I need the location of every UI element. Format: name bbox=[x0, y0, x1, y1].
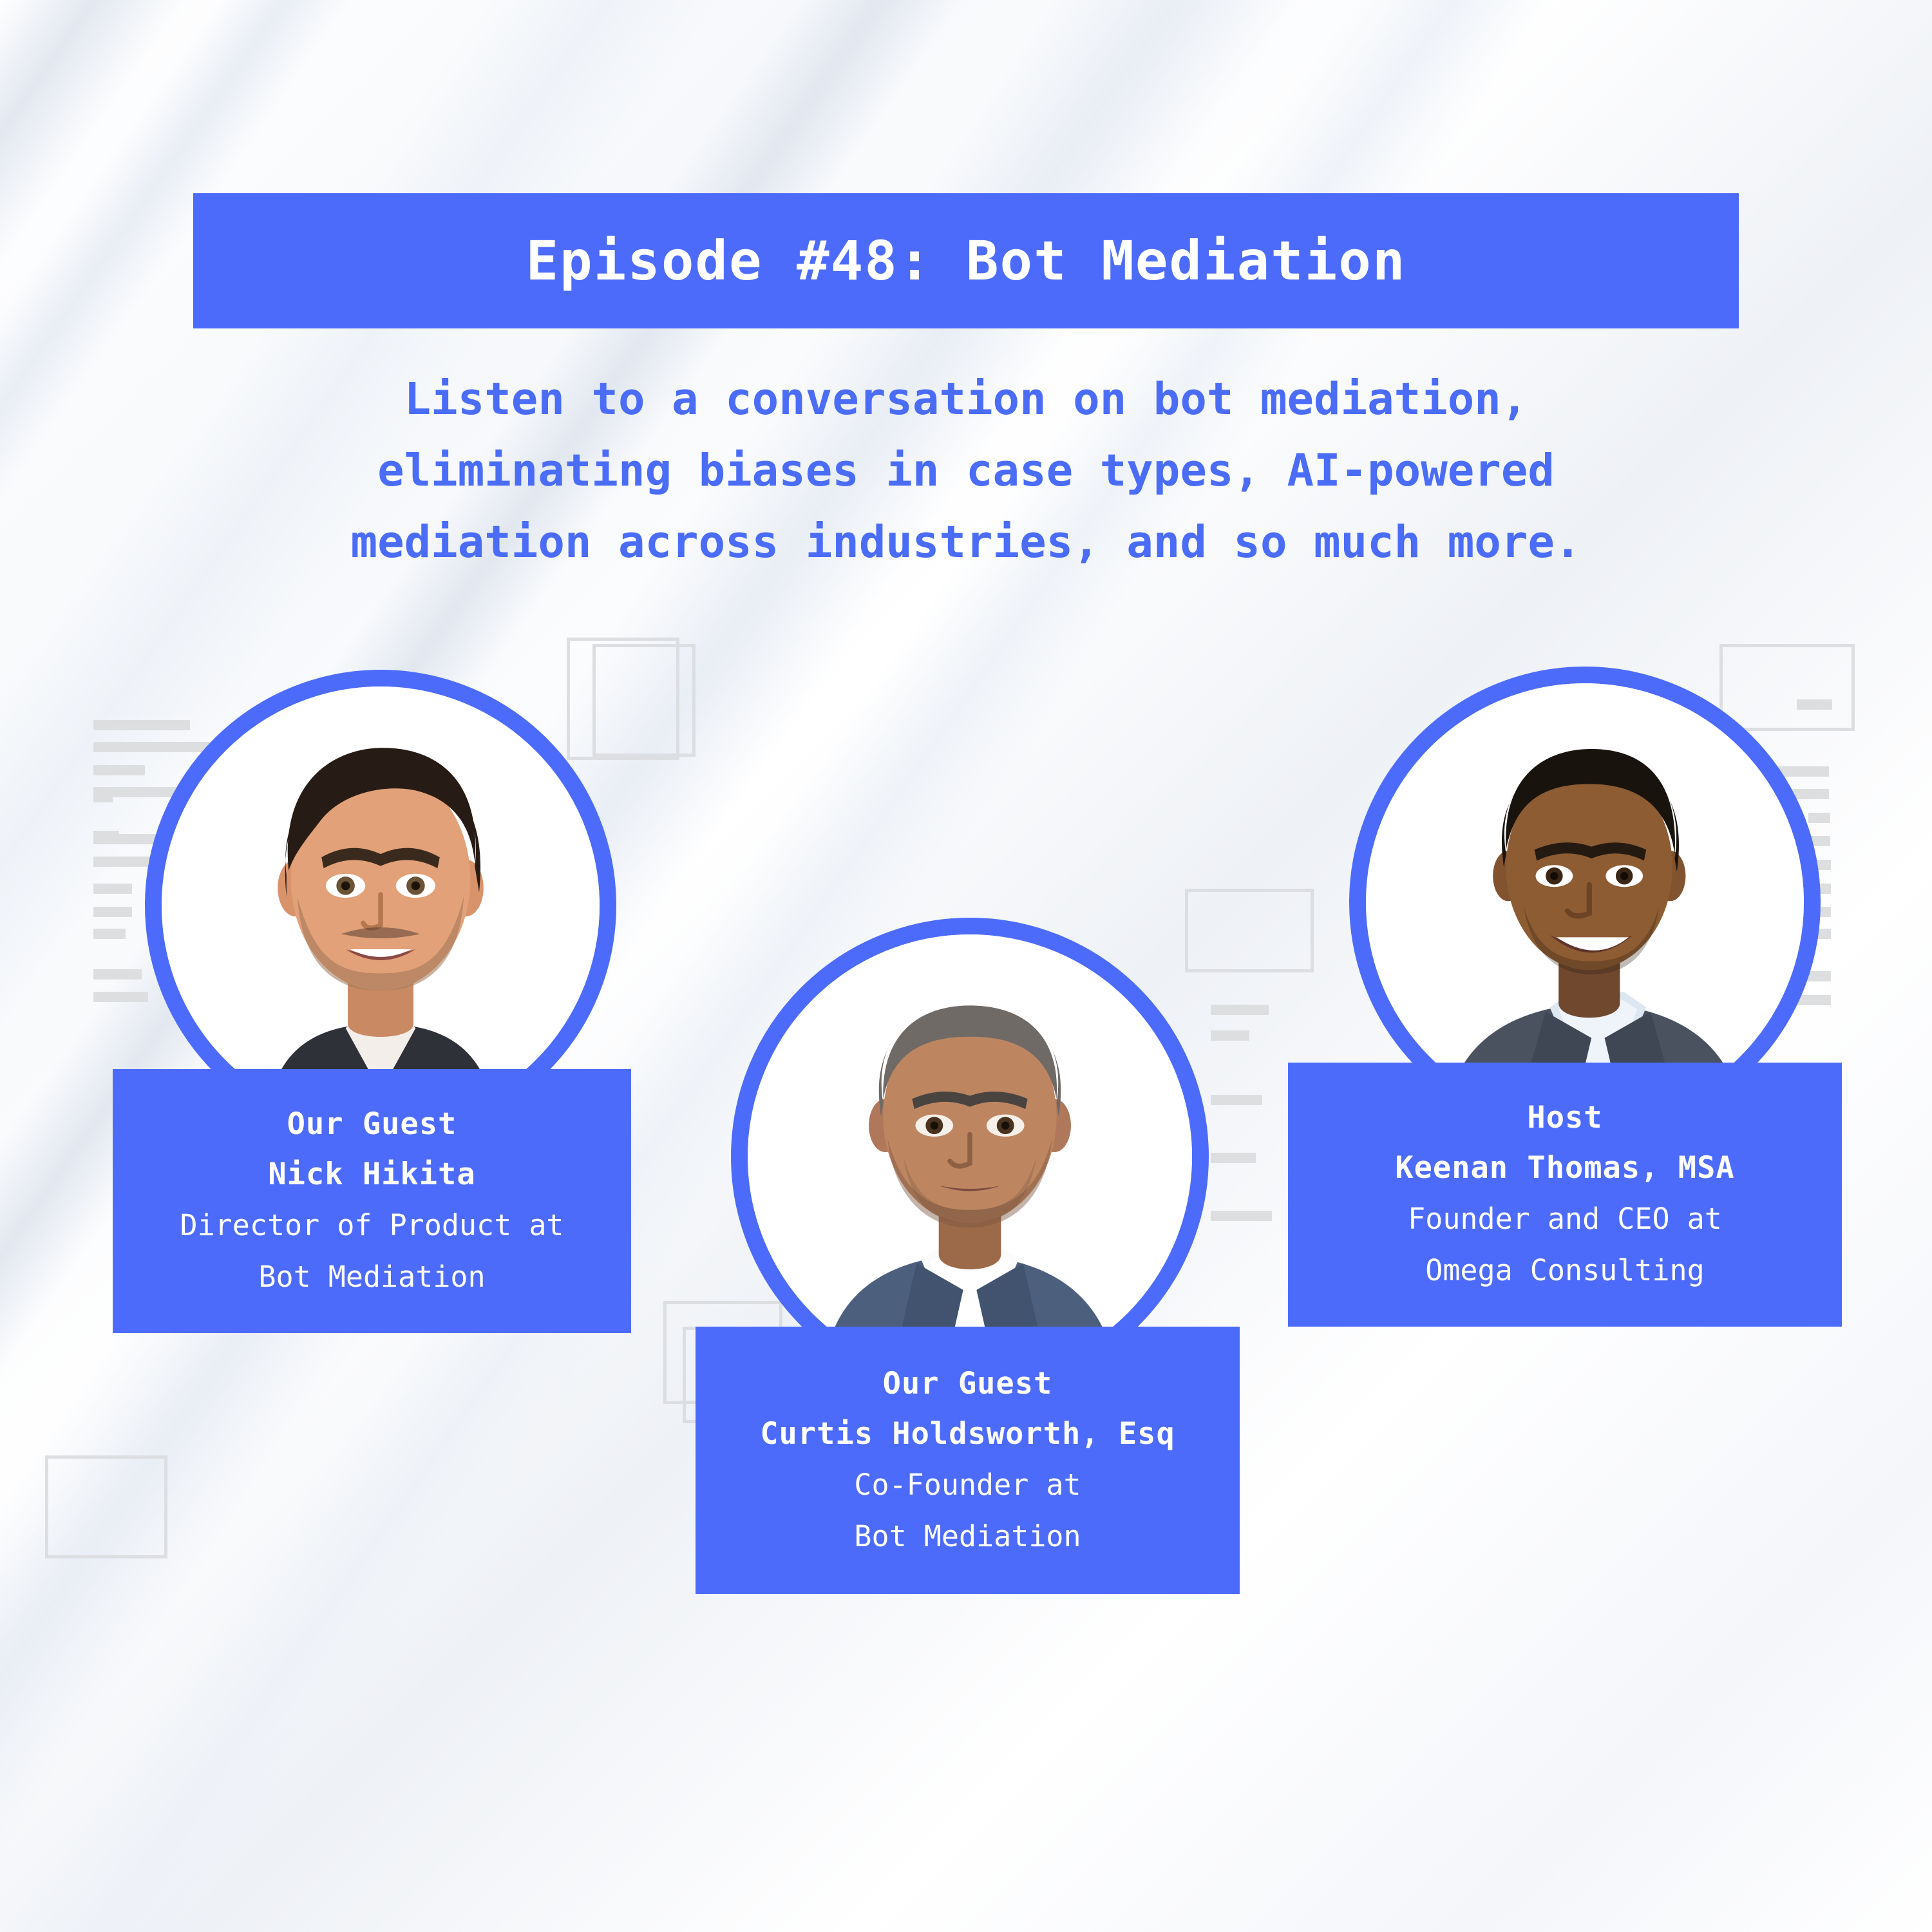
background-line-left-7 bbox=[93, 884, 132, 894]
episode-title-banner: Episode #48: Bot Mediation bbox=[193, 193, 1739, 328]
speaker-caption-nick-hikita: Our Guest Nick Hikita Director of Produc… bbox=[113, 1069, 631, 1333]
speaker-title-line1: Co-Founder at bbox=[854, 1459, 1081, 1511]
background-line-mid-5 bbox=[1211, 1211, 1272, 1221]
speaker-title-line2: Omega Consulting bbox=[1425, 1245, 1704, 1296]
background-square-7 bbox=[45, 1455, 167, 1558]
background-square-2 bbox=[592, 644, 696, 757]
background-line-left-13 bbox=[93, 792, 113, 802]
headshot-keenan-thomas bbox=[1366, 683, 1804, 1121]
background-line-left-11 bbox=[93, 969, 142, 980]
platform-logo-row: OMEGA ® CONSULTING Spotify bbox=[0, 1707, 1932, 1906]
background-line-left-9 bbox=[93, 907, 132, 917]
speaker-role: Our Guest bbox=[883, 1359, 1053, 1409]
description-line-3: mediation across industries, and so much… bbox=[213, 507, 1719, 578]
background-line-right-9 bbox=[1806, 971, 1831, 981]
episode-description: Listen to a conversation on bot mediatio… bbox=[213, 364, 1719, 578]
background-square-5 bbox=[1185, 889, 1314, 972]
background-line-right-3 bbox=[1808, 813, 1830, 823]
speaker-role: Our Guest bbox=[287, 1099, 457, 1150]
avatar-curtis-holdsworth bbox=[731, 918, 1209, 1396]
speaker-name: Curtis Holdsworth, Esq bbox=[760, 1409, 1175, 1459]
speaker-name: Keenan Thomas, MSA bbox=[1395, 1143, 1734, 1193]
background-line-left-12 bbox=[93, 992, 148, 1002]
speaker-role: Host bbox=[1527, 1093, 1602, 1143]
background-line-mid-3 bbox=[1211, 1095, 1262, 1105]
speaker-title-line2: Bot Mediation bbox=[258, 1251, 485, 1303]
speaker-title-line2: Bot Mediation bbox=[854, 1511, 1081, 1562]
speaker-caption-curtis-holdsworth: Our Guest Curtis Holdsworth, Esq Co-Foun… bbox=[696, 1327, 1240, 1594]
speaker-caption-keenan-thomas: Host Keenan Thomas, MSA Founder and CEO … bbox=[1288, 1063, 1842, 1327]
page-title: Episode #48: Bot Mediation bbox=[526, 234, 1406, 288]
background-line-left-3 bbox=[93, 765, 145, 775]
speaker-name: Nick Hikita bbox=[268, 1150, 475, 1200]
background-line-mid-2 bbox=[1211, 1030, 1249, 1041]
speaker-title-line1: Director of Product at bbox=[180, 1200, 563, 1251]
description-line-1: Listen to a conversation on bot mediatio… bbox=[213, 364, 1719, 435]
background-line-mid-4 bbox=[1211, 1153, 1256, 1163]
podcast-episode-graphic: Episode #48: Bot Mediation Listen to a c… bbox=[0, 0, 1932, 1932]
background-line-left-8 bbox=[93, 857, 155, 867]
headshot-curtis-holdsworth bbox=[748, 934, 1192, 1379]
speaker-title-line1: Founder and CEO at bbox=[1408, 1193, 1722, 1245]
background-line-left-10 bbox=[93, 929, 126, 939]
background-line-mid-1 bbox=[1211, 1005, 1269, 1015]
description-line-2: eliminating biases in case types, AI-pow… bbox=[213, 435, 1719, 507]
headshot-nick-hikita bbox=[162, 687, 600, 1124]
